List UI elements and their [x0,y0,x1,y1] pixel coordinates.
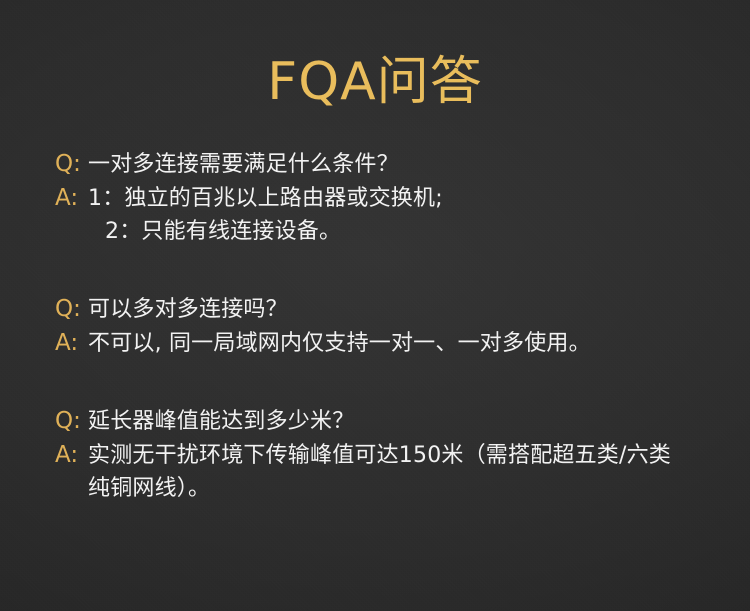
answer-line: 不可以, 同一局域网内仅支持一对一、一对多使用。 [88,327,715,360]
faq-question-row: Q: 延长器峰值能达到多少米？ [55,405,715,438]
answer-label: A: [55,327,88,360]
faq-answer-row: A: 不可以, 同一局域网内仅支持一对一、一对多使用。 [55,327,715,360]
answer-text: 实测无干扰环境下传输峰值可达150米（需搭配超五类/六类 纯铜网线）。 [88,439,715,505]
faq-question-row: Q: 一对多连接需要满足什么条件？ [55,148,715,181]
faq-question-row: Q: 可以多对多连接吗？ [55,293,715,326]
answer-line: 1：独立的百兆以上路由器或交换机; [88,182,715,215]
answer-line: 实测无干扰环境下传输峰值可达150米（需搭配超五类/六类 [88,439,715,472]
answer-line: 纯铜网线）。 [88,472,715,505]
question-label: Q: [55,148,88,181]
answer-text: 不可以, 同一局域网内仅支持一对一、一对多使用。 [88,327,715,360]
faq-item: Q: 可以多对多连接吗？ A: 不可以, 同一局域网内仅支持一对一、一对多使用。 [55,293,715,360]
answer-line: 2：只能有线连接设备。 [88,215,715,248]
faq-item: Q: 一对多连接需要满足什么条件？ A: 1：独立的百兆以上路由器或交换机; 2… [55,148,715,248]
answer-label: A: [55,182,88,215]
answer-text: 1：独立的百兆以上路由器或交换机; 2：只能有线连接设备。 [88,182,715,248]
faq-answer-row: A: 1：独立的百兆以上路由器或交换机; 2：只能有线连接设备。 [55,182,715,248]
answer-label: A: [55,439,88,472]
faq-panel: FQA问答 Q: 一对多连接需要满足什么条件？ A: 1：独立的百兆以上路由器或… [0,0,750,611]
question-label: Q: [55,293,88,326]
question-text: 可以多对多连接吗？ [88,293,715,326]
page-title: FQA问答 [0,52,750,112]
faq-answer-row: A: 实测无干扰环境下传输峰值可达150米（需搭配超五类/六类 纯铜网线）。 [55,439,715,505]
faq-item: Q: 延长器峰值能达到多少米？ A: 实测无干扰环境下传输峰值可达150米（需搭… [55,405,715,505]
question-text: 一对多连接需要满足什么条件？ [88,148,715,181]
faq-list: Q: 一对多连接需要满足什么条件？ A: 1：独立的百兆以上路由器或交换机; 2… [55,148,715,506]
question-text: 延长器峰值能达到多少米？ [88,405,715,438]
question-label: Q: [55,405,88,438]
